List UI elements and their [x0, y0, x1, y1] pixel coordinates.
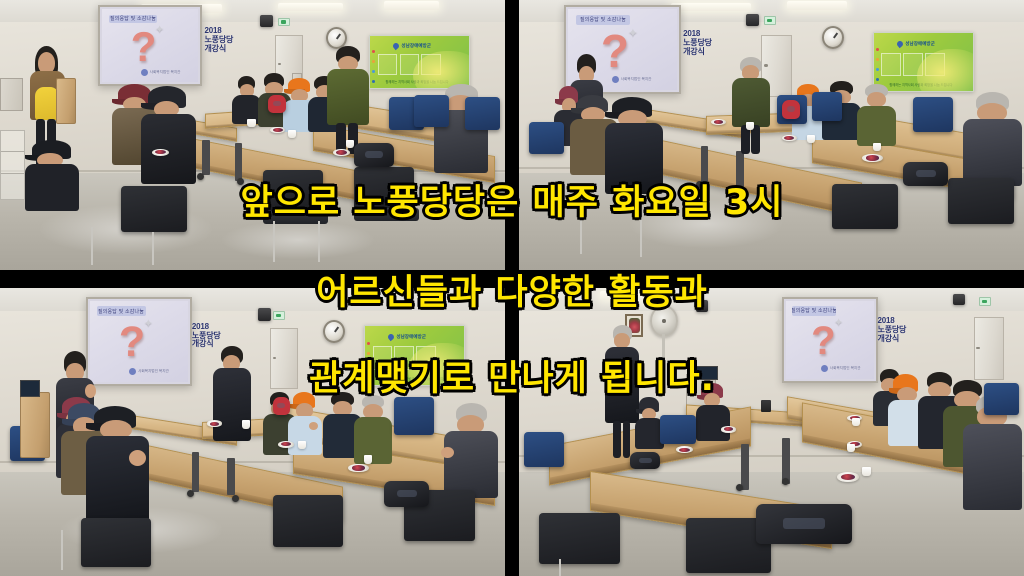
slide-logo-text: 사회복지법인 복지관: [830, 366, 861, 371]
ceiling-light: [671, 3, 752, 12]
poster-logo: 성남장애예방군: [393, 43, 431, 49]
table-caster: [782, 478, 789, 485]
snack-plate: [711, 119, 726, 125]
chair: [354, 167, 415, 210]
chair: [948, 178, 1014, 224]
photo-panel-bottom-left: 질의응답 및 소감나눔 ? ✦ 사회복지법인 복지관 2018 노풍당당 개강식: [0, 288, 505, 576]
sparkle-icon: ✦: [834, 318, 843, 329]
snack-plate: [721, 426, 736, 432]
projector-screen: 질의응답 및 소감나눔 ? ✦ 사회복지법인 복지관: [86, 297, 192, 386]
slide-banner-text: 질의응답 및 소감나눔: [580, 17, 626, 24]
wall-clock: [323, 320, 345, 343]
slide-logo-text: 사회복지법인 복지관: [138, 369, 169, 374]
photo-panel-top-left: 질의응답 및 소감나눔 ? ✦ 사회복지법인 복지관 2018 노풍당당 개강식: [0, 0, 505, 270]
table-leg: [227, 458, 235, 495]
table-leg: [741, 444, 749, 490]
paper-cup: [852, 418, 860, 427]
table-leg: [736, 151, 744, 189]
red-bag: [268, 95, 286, 114]
poster-color-dots: [876, 48, 879, 88]
slide-logo: 사회복지법인 복지관: [821, 365, 851, 373]
slide-logo-text: 사회복지법인 복지관: [150, 70, 181, 75]
wall-poster: 성남장애예방군 함께하는 지역사회 사랑과 희망을 나눔 드립니다: [364, 325, 465, 385]
poster-color-dots: [372, 50, 375, 89]
wall-clock: [822, 26, 844, 49]
poster-logo: 성남장애예방군: [388, 334, 426, 340]
snack-plate: [348, 464, 368, 473]
snack-plate: [207, 420, 222, 426]
photo-panel-top-right: 질의응답 및 소감나눔 ? ✦ 사회복지법인 복지관 2018 노풍당당 개강식: [519, 0, 1024, 270]
exit-sign: [979, 297, 991, 306]
snack-plate: [278, 441, 294, 448]
chair: [465, 97, 500, 129]
slide-banner: 질의응답 및 소감나눔: [576, 15, 630, 25]
poster-org-name: 성남장애예방군: [905, 41, 935, 47]
red-bag: [273, 397, 290, 414]
chair: [81, 518, 152, 567]
slide-logo: 사회복지법인 복지관: [612, 76, 649, 84]
participant: [857, 84, 897, 146]
poster-panels: [373, 346, 436, 369]
sparkle-icon: ✦: [628, 27, 638, 39]
table-caster: [197, 173, 204, 180]
table-leg: [701, 146, 709, 184]
pen-holder: [761, 400, 771, 412]
chair: [832, 184, 898, 230]
poster-logo: 성남장애예방군: [897, 41, 935, 47]
presentation-slide: 질의응답 및 소감나눔 ? ✦ 사회복지법인 복지관: [102, 9, 198, 82]
table-leg: [782, 438, 790, 484]
wall-title-line-3: 개강식: [878, 335, 907, 344]
paper-cup: [862, 467, 871, 476]
ceiling-speaker-icon: [260, 15, 273, 27]
wall-title: 2018 노풍당당 개강식: [683, 30, 712, 57]
chair: [524, 432, 564, 467]
chair: [121, 186, 187, 232]
table-caster: [736, 484, 743, 491]
exit-sign: [764, 16, 776, 25]
floor-reflection: [630, 200, 782, 249]
exit-sign: [278, 18, 290, 27]
ceiling-light: [278, 3, 344, 12]
paper-cup: [298, 441, 306, 450]
table-caster: [187, 490, 194, 497]
backpack: [756, 504, 852, 544]
ceiling: [0, 288, 505, 314]
logo-mark-icon: [612, 76, 619, 83]
poster-color-dots: [367, 342, 370, 382]
paper-cup: [873, 143, 881, 151]
fan-pole: [662, 334, 665, 380]
poster-footer-text: 함께하는 지역사회 사랑과 희망을 나눔 드립니다: [889, 82, 952, 87]
participant: [444, 403, 500, 498]
chair: [414, 95, 449, 127]
paper-cup: [288, 130, 296, 138]
projector-screen: 질의응답 및 소감나눔 ? ✦ 사회복지법인 복지관: [782, 297, 878, 383]
laptop-screen: [20, 380, 40, 397]
electric-fan: [650, 305, 678, 337]
poster-org-name: 성남장애예방군: [396, 334, 426, 340]
wall-title-line-3: 개강식: [683, 48, 712, 57]
slide-banner: 질의응답 및 소감나눔: [792, 306, 836, 315]
floor-reflection: [222, 221, 374, 259]
chair-seat: [354, 208, 420, 222]
door: [974, 317, 1004, 380]
table-leg: [235, 143, 243, 181]
logo-mark-icon: [129, 368, 136, 375]
handbag: [630, 452, 660, 469]
ceiling-light: [600, 291, 671, 300]
ceiling: [519, 288, 1024, 314]
presentation-slide: 질의응답 및 소감나눔 ? ✦ 사회복지법인 복지관: [90, 301, 188, 382]
bird-logo-icon: [392, 42, 400, 50]
slide-banner-text: 질의응답 및 소감나눔: [792, 307, 836, 314]
chair: [913, 97, 953, 132]
chair: [660, 415, 695, 444]
laptop-screen: [696, 366, 719, 380]
slide-logo-text: 사회복지법인 복지관: [621, 77, 652, 82]
logo-mark-icon: [821, 365, 828, 372]
wall-poster: 성남장애예방군 함께하는 지역사회 사랑과 희망을 나눔 드립니다: [369, 35, 470, 89]
snack-plate: [862, 154, 882, 162]
red-bag: [782, 100, 800, 119]
table-leg: [192, 452, 200, 492]
participant: [963, 92, 1024, 187]
ceiling-speaker-icon: [258, 308, 271, 321]
wall-title: 2018 노풍당당 개강식: [878, 317, 907, 344]
photo-panel-bottom-right: 질의응답 및 소감나눔 ? ✦ 사회복지법인 복지관 2018 노풍당당 개강식: [519, 288, 1024, 576]
paper-cup: [242, 420, 250, 429]
backpack: [903, 162, 948, 186]
slide-banner-text: 질의응답 및 소감나눔: [110, 16, 156, 23]
slide-banner-text: 질의응답 및 소감나눔: [98, 308, 144, 315]
clapping-hands: [85, 384, 96, 398]
projector-screen: 질의응답 및 소감나눔 ? ✦ 사회복지법인 복지관: [98, 5, 202, 86]
ceiling-speaker-icon: [953, 294, 965, 306]
standing-participant: [731, 57, 771, 154]
sparkle-icon: ✦: [155, 25, 164, 36]
paper-cup: [847, 444, 855, 453]
collage-gutter-horizontal: [0, 270, 1024, 288]
chair: [273, 495, 344, 547]
sparkle-icon: ✦: [144, 319, 153, 330]
poster-footer-text: 함께하는 지역사회 사랑과 희망을 나눔 드립니다: [380, 376, 443, 381]
slide-logo: 사회복지법인 복지관: [129, 367, 162, 375]
utility-cart: [0, 130, 25, 200]
chair: [529, 122, 564, 154]
participant: [354, 395, 394, 464]
chair: [539, 513, 620, 565]
slide-banner: 질의응답 및 소감나눔: [109, 15, 157, 24]
ceiling-light: [787, 1, 848, 10]
chair: [394, 397, 434, 434]
ceiling-speaker-icon: [746, 14, 759, 26]
chair: [984, 383, 1019, 415]
photo-collage: 질의응답 및 소감나눔 ? ✦ 사회복지법인 복지관 2018 노풍당당 개강식: [0, 0, 1024, 576]
chair: [812, 92, 842, 122]
paper-cup: [807, 135, 815, 143]
backpack: [384, 481, 429, 507]
wall-title: 2018 노풍당당 개강식: [205, 27, 234, 54]
poster-panels: [378, 54, 441, 75]
participant: [25, 140, 81, 210]
participant: [141, 86, 197, 183]
slide-banner: 질의응답 및 소감나눔: [97, 306, 146, 316]
table-leg: [202, 140, 210, 175]
table-caster: [696, 181, 703, 188]
podium: [56, 78, 76, 124]
equipment-cabinet: [0, 78, 23, 110]
poster-org-name: 성남장애예방군: [401, 43, 431, 49]
paper-cup: [346, 140, 354, 148]
presentation-slide: 질의응답 및 소감나눔 ? ✦ 사회복지법인 복지관: [786, 301, 874, 379]
paper-cup: [364, 455, 372, 464]
standing-participant: [326, 46, 371, 154]
bird-logo-icon: [387, 333, 395, 341]
paper-cup: [247, 119, 255, 127]
snack-plate: [152, 149, 169, 156]
door: [270, 328, 298, 388]
podium: [20, 392, 50, 458]
bird-logo-icon: [896, 40, 904, 48]
exit-sign: [273, 311, 285, 320]
slide-logo: 사회복지법인 복지관: [141, 69, 173, 76]
wall-title-line-3: 개강식: [205, 45, 234, 54]
logo-mark-icon: [141, 69, 148, 76]
chair: [263, 170, 324, 213]
poster-panels: [881, 53, 944, 76]
collage-gutter-vertical: [505, 0, 519, 576]
ceiling-light: [384, 1, 440, 10]
participant: [605, 97, 666, 194]
ceiling-speaker-icon: [696, 300, 708, 312]
participant: [86, 406, 152, 521]
backpack: [354, 143, 394, 167]
paper-cup: [746, 122, 754, 130]
